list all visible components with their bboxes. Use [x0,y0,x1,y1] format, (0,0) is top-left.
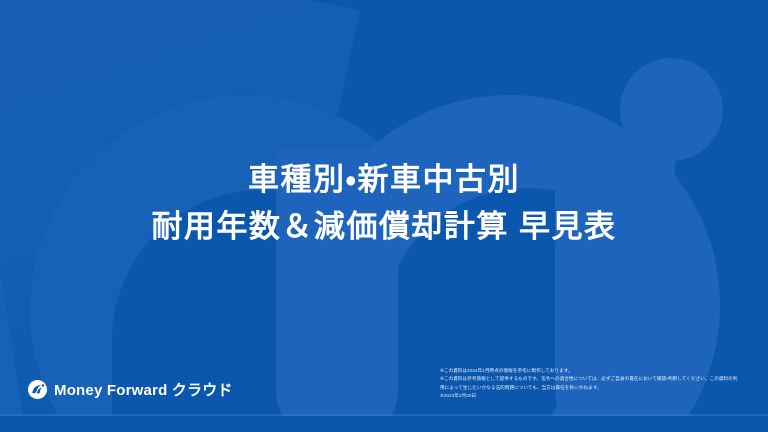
bottom-divider-line [0,414,768,416]
circle-accent-shape [620,58,723,161]
disclaimer-line-3: ※2024年2月20日 [440,392,740,400]
page-title: 車種別・新車中古別 耐用年数＆減価償却計算 早見表 [0,156,768,250]
money-forward-logo-mark [28,380,47,399]
title-line-1: 車種別・新車中古別 [0,156,768,203]
logo-text: Money Forward クラウド [54,379,233,400]
disclaimer-line-2: ※この資料は参考情報として提供するものです。法令への適合性については、必ずご自身… [440,375,740,391]
title-line-2: 耐用年数＆減価償却計算 早見表 [0,203,768,250]
disclaimer-block: ※この資料は2024年1月時点の情報を参考に制作しております。 ※この資料は参考… [440,367,740,400]
disclaimer-line-1: ※この資料は2024年1月時点の情報を参考に制作しております。 [440,367,740,375]
money-forward-cloud-logo: Money Forward クラウド [28,379,233,400]
bottom-strip [0,416,768,432]
title-slide: 車種別・新車中古別 耐用年数＆減価償却計算 早見表 Money Forward … [0,0,768,432]
